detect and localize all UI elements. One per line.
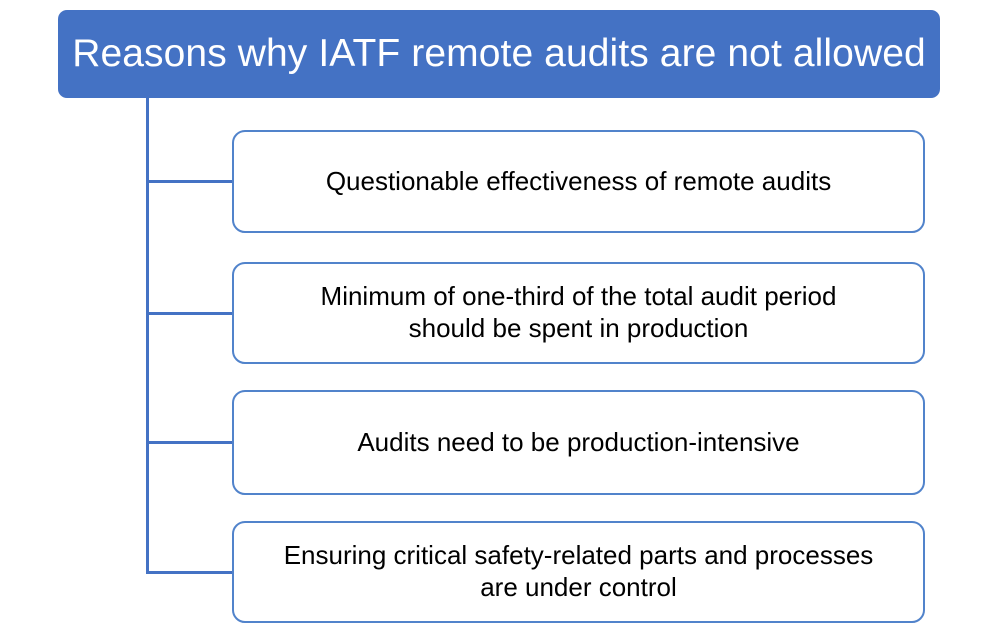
connector-vertical-spine	[146, 98, 149, 574]
diagram-node-label: Minimum of one-third of the total audit …	[321, 281, 837, 344]
connector-branch-3	[146, 441, 234, 444]
diagram-node-label: Questionable effectiveness of remote aud…	[326, 166, 831, 198]
connector-branch-4	[146, 571, 234, 574]
diagram-node-reason-2[interactable]: Minimum of one-third of the total audit …	[232, 262, 925, 364]
diagram-node-label: Ensuring critical safety-related parts a…	[284, 540, 874, 603]
diagram-node-label: Audits need to be production-intensive	[357, 427, 799, 459]
diagram-node-reason-1[interactable]: Questionable effectiveness of remote aud…	[232, 130, 925, 233]
connector-branch-2	[146, 312, 234, 315]
diagram-root-title: Reasons why IATF remote audits are not a…	[72, 33, 926, 76]
diagram-root-node[interactable]: Reasons why IATF remote audits are not a…	[58, 10, 940, 98]
connector-branch-1	[146, 180, 234, 183]
diagram-node-reason-3[interactable]: Audits need to be production-intensive	[232, 390, 925, 495]
diagram-node-reason-4[interactable]: Ensuring critical safety-related parts a…	[232, 521, 925, 623]
diagram-canvas: Reasons why IATF remote audits are not a…	[0, 0, 1000, 628]
